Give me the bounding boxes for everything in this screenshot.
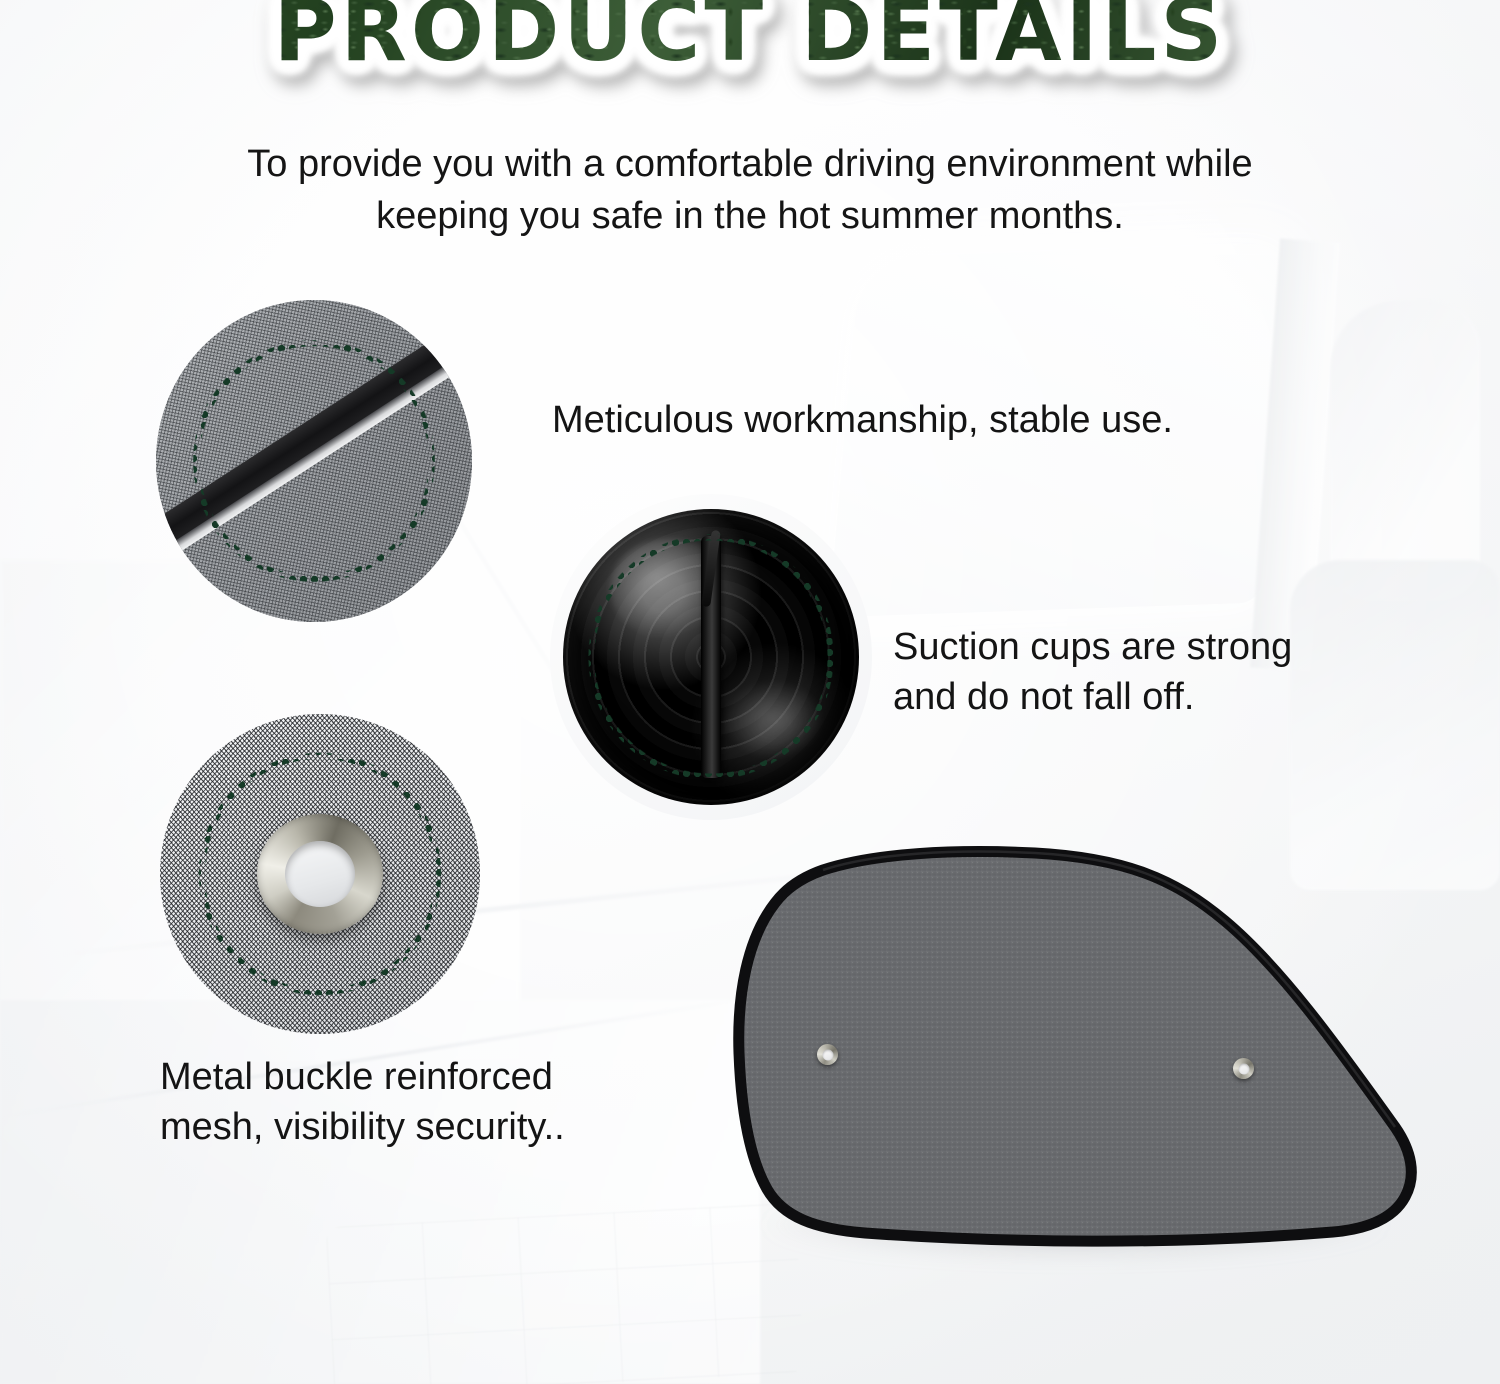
page-subtitle: To provide you with a comfortable drivin… (215, 138, 1285, 243)
callout-buckle-line-2: mesh, visibility security.. (160, 1102, 660, 1152)
callout-buckle-line-1: Metal buckle reinforced (160, 1052, 660, 1102)
product-grommet-right (1233, 1058, 1254, 1079)
sunshade-shape (705, 845, 1445, 1255)
dotted-ring-icon (148, 702, 492, 1046)
detail-circle-suction-cup (538, 482, 884, 832)
callout-suction-line-2: and do not fall off. (893, 672, 1363, 722)
detail-circle-metal-grommet (148, 702, 492, 1046)
dotted-ring-icon (538, 482, 884, 832)
background-seatback (1290, 560, 1500, 890)
background-headrest (1330, 300, 1480, 600)
callout-text-workmanship: Meticulous workmanship, stable use. (552, 396, 1173, 445)
product-details-page: PRODUCT DETAILS To provide you with a co… (0, 0, 1500, 1384)
product-grommet-left (817, 1044, 838, 1065)
sunshade-body (739, 852, 1412, 1242)
callout-text-suction: Suction cups are strong and do not fall … (893, 622, 1363, 722)
page-title: PRODUCT DETAILS (0, 0, 1500, 74)
callout-suction-line-1: Suction cups are strong (893, 622, 1363, 672)
dotted-ring-icon (144, 288, 484, 634)
callout-text-buckle: Metal buckle reinforced mesh, visibility… (160, 1052, 660, 1152)
product-sunshade-photo (705, 845, 1445, 1255)
detail-circle-mesh-edge (144, 288, 484, 634)
